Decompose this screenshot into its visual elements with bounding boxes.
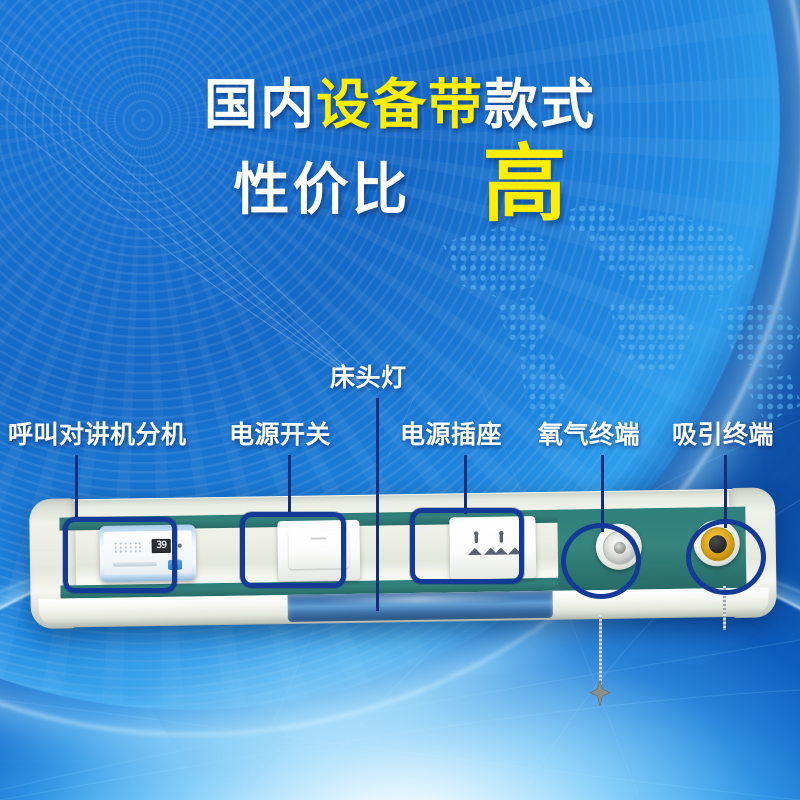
headline-block: 国内设备带款式 性价比 高 xyxy=(0,78,800,232)
product-promo-image: 国内设备带款式 性价比 高 呼叫对讲机分机 电源开关 床头灯 电源插座 氧气终端… xyxy=(0,0,800,800)
headline-text-high: 高 xyxy=(482,142,566,226)
leader-line-power-socket xyxy=(464,455,467,514)
highlight-ring-suction xyxy=(686,519,766,595)
leader-line-intercom xyxy=(75,455,78,521)
leader-line-oxygen xyxy=(601,455,604,532)
headline-text-domestic: 国内 xyxy=(204,75,316,135)
headline-text-value-ratio: 性价比 xyxy=(233,162,410,218)
oxygen-pull-chain xyxy=(599,615,602,687)
callout-label-power-socket: 电源插座 xyxy=(400,415,502,451)
highlight-ring-oxygen xyxy=(561,523,641,599)
callout-label-power-switch: 电源开关 xyxy=(229,415,331,451)
leader-line-suction xyxy=(724,455,727,528)
leader-line-bed-lamp xyxy=(376,398,379,611)
headline-line-1: 国内设备带款式 xyxy=(0,78,800,132)
chain-pull-handle-icon xyxy=(589,680,611,706)
headline-text-style: 款式 xyxy=(484,75,596,135)
callout-label-intercom: 呼叫对讲机分机 xyxy=(8,415,187,451)
headline-text-bedhead-unit: 设备带 xyxy=(316,75,484,135)
callout-label-oxygen: 氧气终端 xyxy=(538,415,640,451)
callout-label-bed-lamp: 床头灯 xyxy=(330,358,407,394)
headline-line-2: 性价比 高 xyxy=(0,148,800,232)
leader-line-power-switch xyxy=(288,455,291,517)
callout-label-suction: 吸引终端 xyxy=(672,415,774,451)
highlight-box-power-switch xyxy=(240,512,346,588)
highlight-box-power-socket xyxy=(410,508,524,584)
intercom-indicator-led xyxy=(178,544,182,548)
bed-lamp-highlight xyxy=(319,595,515,605)
highlight-box-intercom xyxy=(63,517,177,593)
bed-lamp-diffuser[interactable] xyxy=(288,591,553,622)
